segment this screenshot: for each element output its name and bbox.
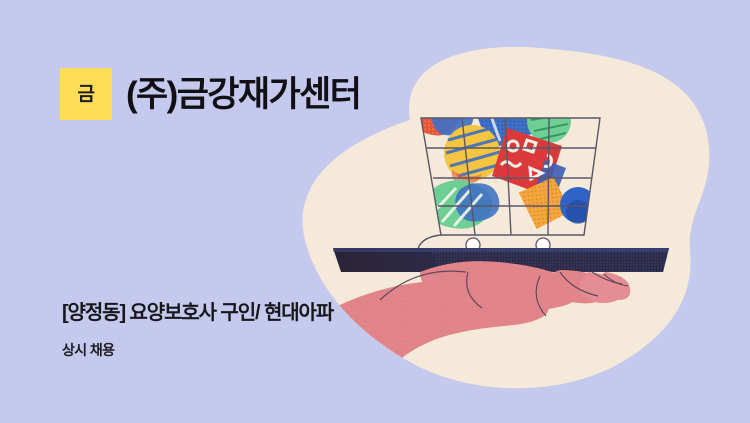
job-title: [양정동] 요양보호사 구인/ 현대아파 <box>62 303 333 323</box>
job-status-label: 상시 채용 <box>62 343 114 357</box>
company-name: (주)금강재가센터 <box>126 77 360 112</box>
job-posting-banner: 금 (주)금강재가센터 [양정동] 요양보호사 구인/ 현대아파 상시 채용 <box>0 0 750 423</box>
company-header: 금 (주)금강재가센터 <box>60 68 360 120</box>
logo-badge-character: 금 <box>78 85 95 104</box>
illustration-artwork <box>0 0 750 423</box>
company-logo-badge: 금 <box>60 68 112 120</box>
